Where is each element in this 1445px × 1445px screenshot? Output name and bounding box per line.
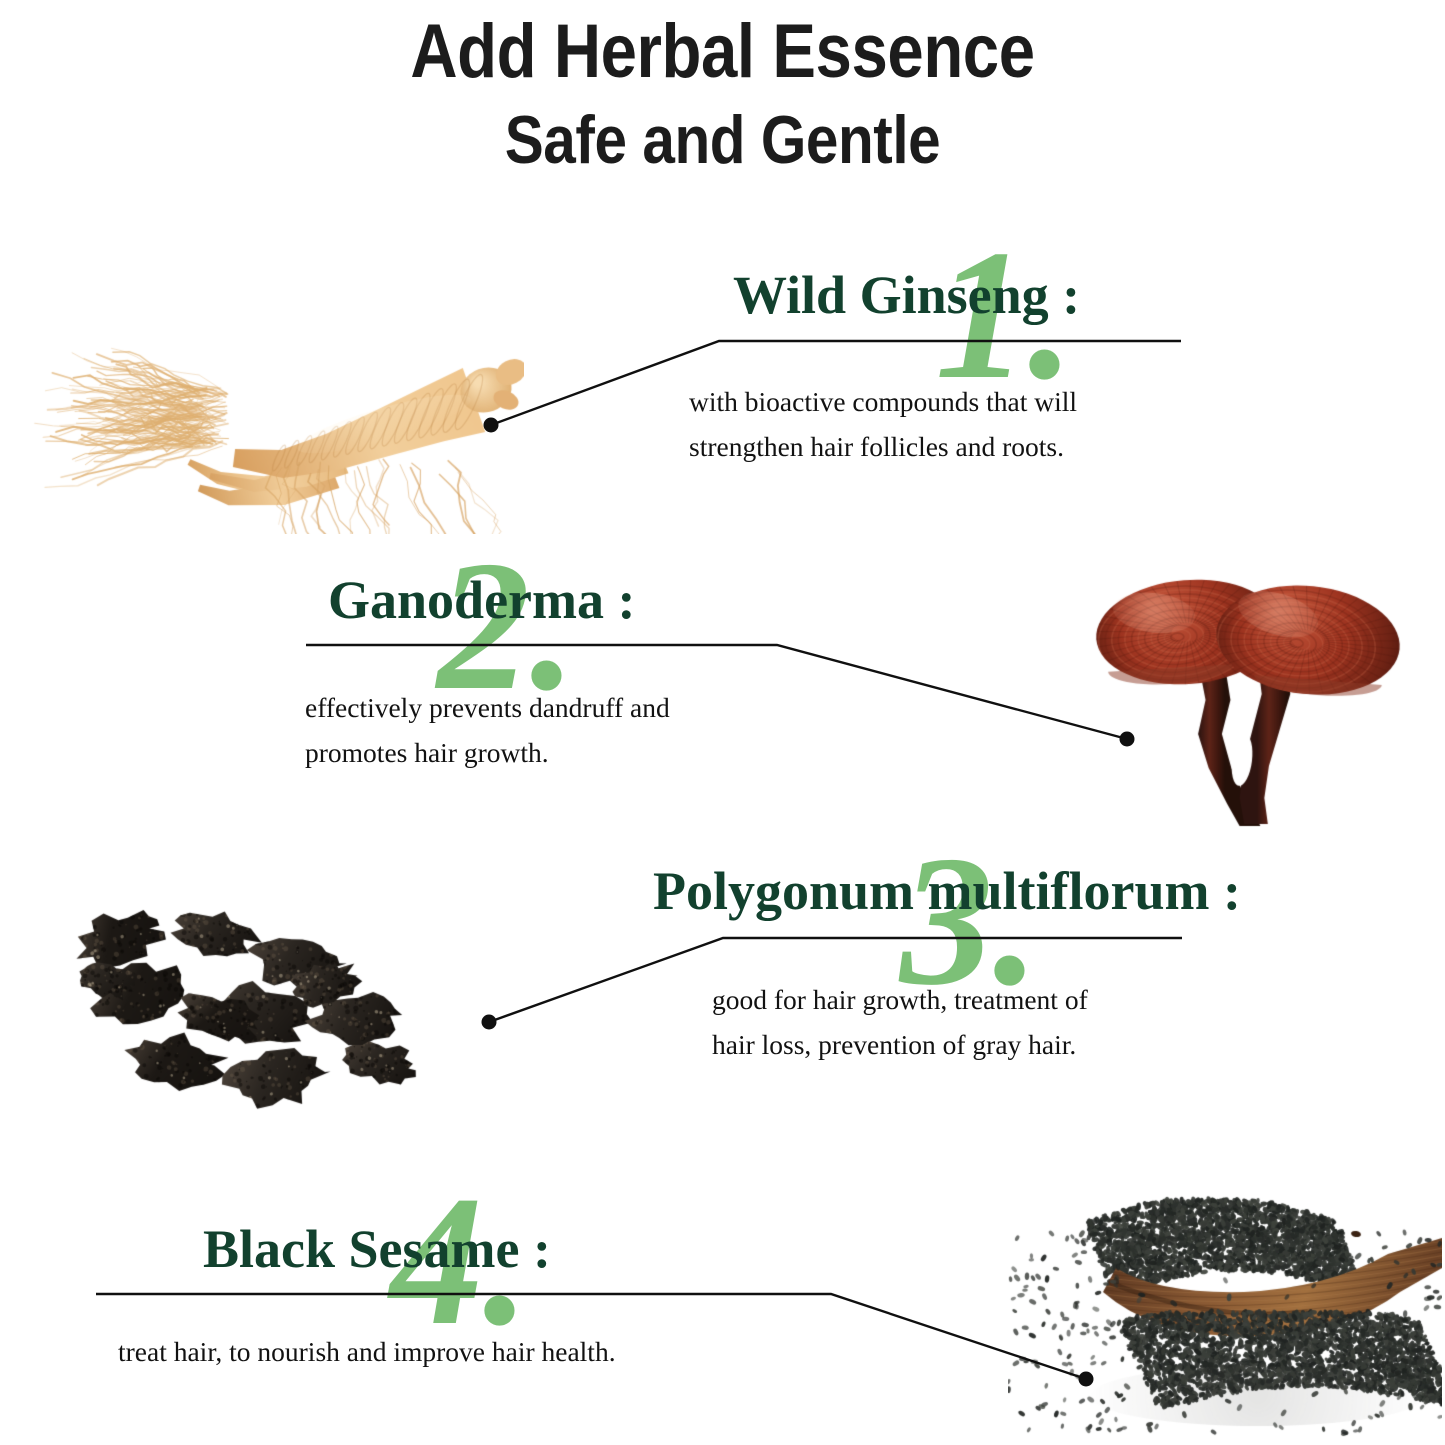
item-heading-2: Ganoderma : (328, 573, 635, 627)
item-body-3-line-1: good for hair growth, treatment of (712, 978, 1242, 1023)
item-heading-4: Black Sesame : (203, 1222, 551, 1276)
item-body-3-line-2: hair loss, prevention of gray hair. (712, 1023, 1242, 1068)
item-body-2: effectively prevents dandruff and promot… (305, 686, 825, 775)
ganoderma-mushroom-photo (1060, 548, 1430, 830)
item-body-1-line-2: strengthen hair follicles and roots. (689, 425, 1219, 470)
polygonum-root-slices-photo (24, 866, 484, 1134)
item-body-2-line-1: effectively prevents dandruff and (305, 686, 825, 731)
ginseng-root-photo (14, 272, 524, 534)
page-title: Add Herbal Essence Safe and Gentle (0, 14, 1445, 174)
item-body-2-line-2: promotes hair growth. (305, 731, 825, 776)
item-body-4: treat hair, to nourish and improve hair … (118, 1330, 838, 1375)
title-line-2: Safe and Gentle (101, 106, 1344, 174)
item-heading-1: Wild Ginseng : (733, 268, 1080, 322)
item-body-1-line-1: with bioactive compounds that will (689, 380, 1219, 425)
item-body-1: with bioactive compounds that will stren… (689, 380, 1219, 469)
black-sesame-seeds-photo (1008, 1172, 1442, 1444)
item-body-4-line-1: treat hair, to nourish and improve hair … (118, 1330, 838, 1375)
item-body-3: good for hair growth, treatment of hair … (712, 978, 1242, 1067)
title-line-1: Add Herbal Essence (101, 14, 1344, 90)
item-heading-3: Polygonum multiflorum : (653, 864, 1241, 918)
